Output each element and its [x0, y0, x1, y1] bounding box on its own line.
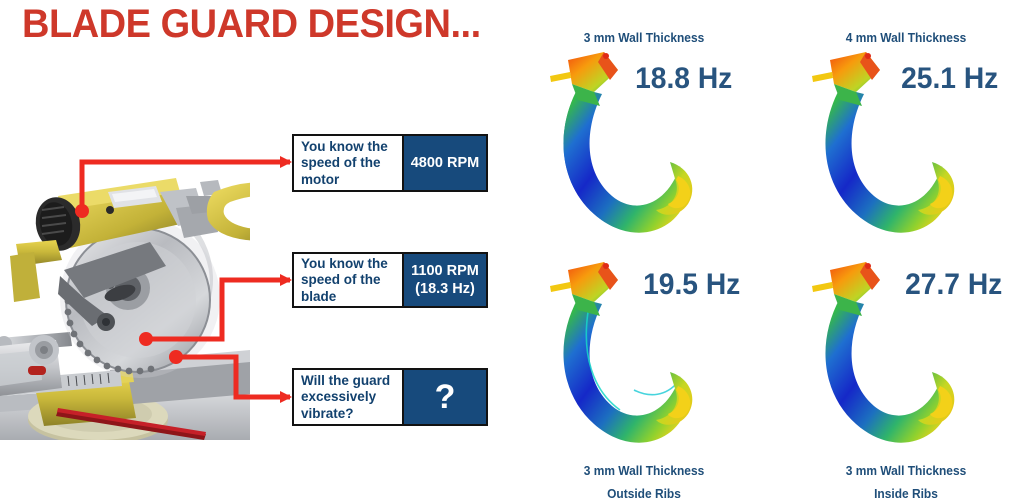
- fea-panel-3mm-outside-ribs: 19.5 Hz 3 mm Wall Thic: [528, 258, 760, 502]
- guard-mode-shape: [550, 52, 692, 233]
- fea-caption-top: 3 mm Wall Thickness: [537, 30, 750, 45]
- guard-mode-shape: [812, 262, 954, 443]
- fea-caption-bottom-1: 3 mm Wall Thickness: [799, 463, 1012, 478]
- callout-motor-speed[interactable]: You know the speed of the motor 4800 RPM: [292, 134, 488, 192]
- fea-panel-3mm-inside-ribs: 27.7 Hz 3 mm Wall Thickness Inside Ribs: [790, 258, 1022, 502]
- callout-blade-speed[interactable]: You know the speed of the blade 1100 RPM…: [292, 252, 488, 308]
- callout-answer: ?: [402, 370, 486, 424]
- callout-question: You know the speed of the blade: [294, 254, 402, 306]
- fea-panel-4mm: 4 mm Wall Thickness 25.1 Hz: [790, 30, 1022, 260]
- fea-caption-bottom-2: Outside Ribs: [537, 486, 750, 501]
- callout-question: You know the speed of the motor: [294, 136, 402, 190]
- page-title: BLADE GUARD DESIGN...: [22, 2, 481, 46]
- callout-question: Will the guard excessively vibrate?: [294, 370, 402, 424]
- fea-panel-3mm: 3 mm Wall Thickness 18.8 Hz: [528, 30, 760, 260]
- miter-saw-illustration: [0, 148, 250, 440]
- callout-answer: 1100 RPM (18.3 Hz): [402, 254, 486, 306]
- guard-mode-shape: [550, 262, 692, 443]
- fea-caption-top: 4 mm Wall Thickness: [799, 30, 1012, 45]
- fea-caption-bottom-1: 3 mm Wall Thickness: [537, 463, 750, 478]
- fea-mode-shape-plot: [800, 258, 980, 458]
- callout-guard-vibration[interactable]: Will the guard excessively vibrate? ?: [292, 368, 488, 426]
- fea-mode-shape-plot: [538, 258, 718, 458]
- fea-caption-bottom-2: Inside Ribs: [799, 486, 1012, 501]
- callout-answer-line2: (18.3 Hz): [415, 281, 475, 297]
- callout-answer: 4800 RPM: [402, 136, 486, 190]
- fea-mode-shape-plot: [800, 48, 980, 248]
- slide-canvas: BLADE GUARD DESIGN...: [0, 0, 1024, 502]
- fea-mode-shape-plot: [538, 48, 718, 248]
- callout-answer-line1: 1100 RPM: [411, 263, 479, 279]
- guard-mode-shape: [812, 52, 954, 233]
- saw-geometry: [0, 178, 250, 440]
